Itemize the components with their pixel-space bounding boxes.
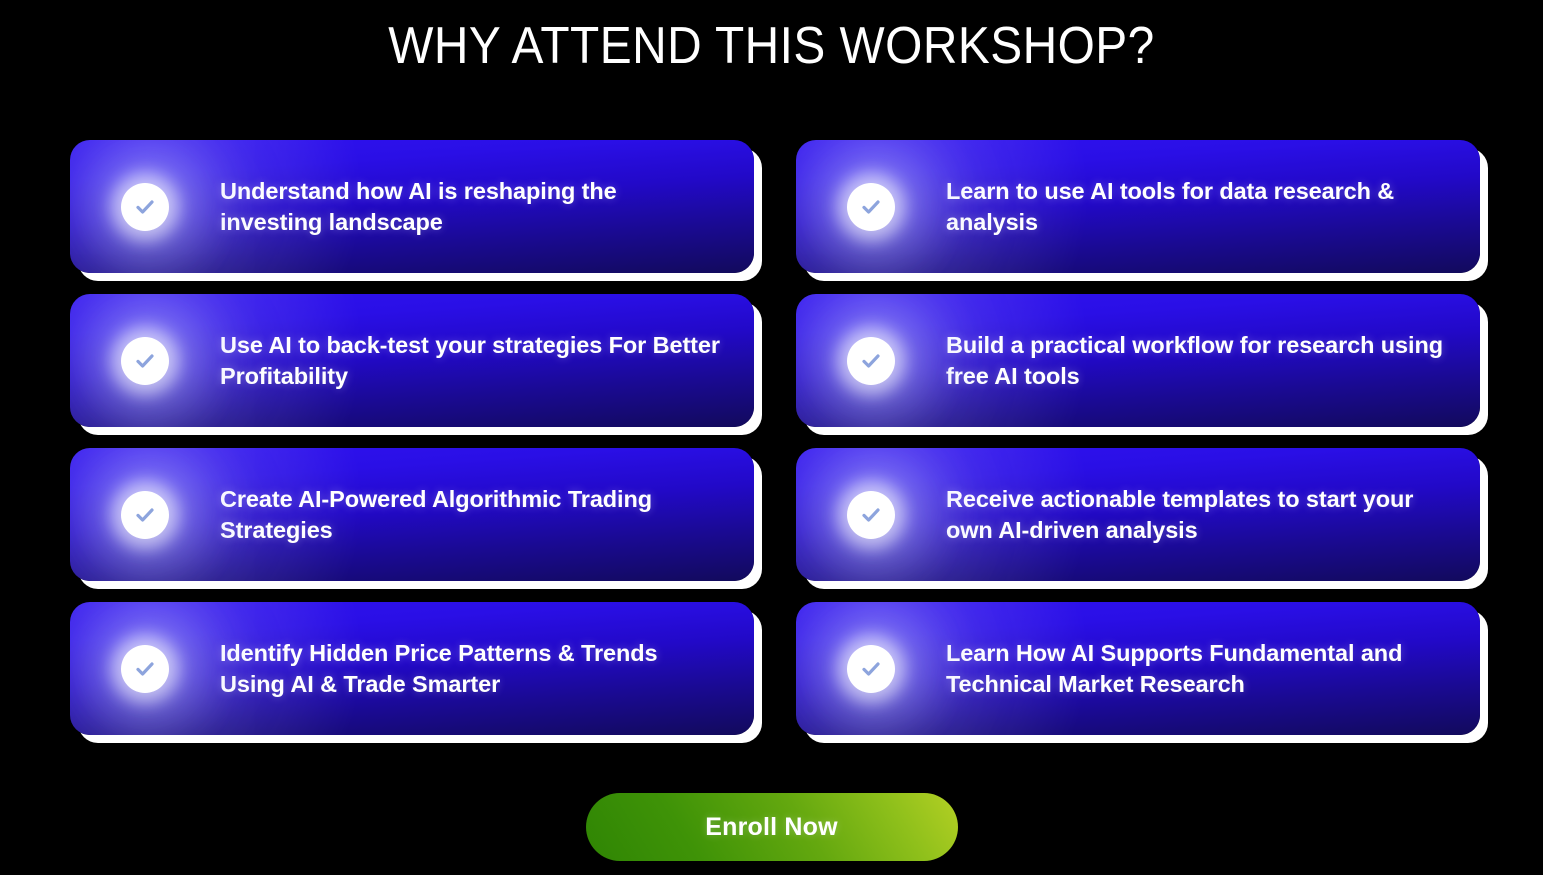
benefit-text: Learn to use AI tools for data research …: [946, 176, 1480, 238]
benefit-text: Understand how AI is reshaping the inves…: [220, 176, 754, 238]
check-circle-icon: [847, 491, 895, 539]
benefit-icon-cell: [796, 602, 946, 735]
benefit-card: Create AI-Powered Algorithmic Trading St…: [70, 448, 754, 581]
benefit-text: Use AI to back-test your strategies For …: [220, 330, 754, 392]
benefit-icon-cell: [796, 140, 946, 273]
benefit-text: Learn How AI Supports Fundamental and Te…: [946, 638, 1480, 700]
benefit-icon-cell: [796, 448, 946, 581]
benefit-icon-cell: [70, 140, 220, 273]
check-circle-icon: [847, 337, 895, 385]
benefit-card: Learn How AI Supports Fundamental and Te…: [796, 602, 1480, 735]
enroll-now-button[interactable]: Enroll Now: [586, 793, 958, 861]
benefit-text: Build a practical workflow for research …: [946, 330, 1480, 392]
workshop-benefits-section: WHY ATTEND THIS WORKSHOP? Understand how…: [0, 0, 1543, 875]
benefit-icon-cell: [70, 448, 220, 581]
check-circle-icon: [121, 337, 169, 385]
cta-container: Enroll Now: [0, 793, 1543, 861]
benefit-text: Create AI-Powered Algorithmic Trading St…: [220, 484, 754, 546]
benefit-text: Receive actionable templates to start yo…: [946, 484, 1480, 546]
benefit-icon-cell: [70, 602, 220, 735]
benefit-icon-cell: [70, 294, 220, 427]
benefit-card: Receive actionable templates to start yo…: [796, 448, 1480, 581]
benefit-card: Identify Hidden Price Patterns & Trends …: [70, 602, 754, 735]
benefit-card: Understand how AI is reshaping the inves…: [70, 140, 754, 273]
page-title: WHY ATTEND THIS WORKSHOP?: [62, 14, 1482, 78]
check-circle-icon: [121, 183, 169, 231]
benefit-card: Use AI to back-test your strategies For …: [70, 294, 754, 427]
check-circle-icon: [847, 183, 895, 231]
benefits-grid: Understand how AI is reshaping the inves…: [70, 140, 1480, 735]
benefit-text: Identify Hidden Price Patterns & Trends …: [220, 638, 754, 700]
check-circle-icon: [847, 645, 895, 693]
benefit-card: Learn to use AI tools for data research …: [796, 140, 1480, 273]
heading-container: WHY ATTEND THIS WORKSHOP?: [0, 0, 1543, 78]
check-circle-icon: [121, 645, 169, 693]
benefit-icon-cell: [796, 294, 946, 427]
benefit-card: Build a practical workflow for research …: [796, 294, 1480, 427]
check-circle-icon: [121, 491, 169, 539]
